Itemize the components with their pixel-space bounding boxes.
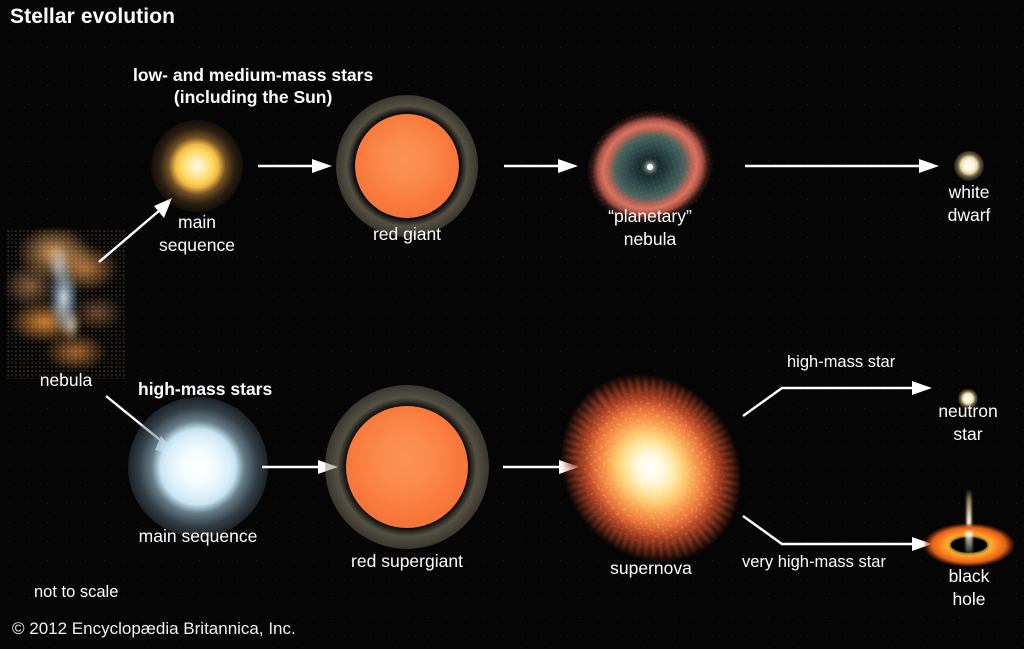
caption-neutron-star-line1: neutron (938, 400, 997, 423)
group-heading-low-mass-line1: low- and medium-mass stars (133, 64, 373, 86)
main-sequence-high-mass-star (128, 397, 268, 537)
group-heading-low-mass: low- and medium-mass stars (including th… (133, 64, 373, 109)
caption-main-sequence-low-line1: main (159, 211, 235, 234)
arrow-supernova-to-neutron-star (740, 380, 940, 420)
caption-black-hole-line2: hole (949, 588, 990, 611)
white-dwarf-object (954, 151, 984, 181)
stellar-evolution-diagram: Stellar evolution low- and medium-mass s… (0, 0, 1024, 649)
arrow-supernova-to-black-hole (740, 512, 940, 554)
black-hole-inner-glow (966, 531, 973, 553)
red-supergiant-object (325, 385, 489, 549)
caption-main-sequence-low: main sequence (159, 211, 235, 257)
arrow-main-sequence-to-red-giant (258, 156, 334, 176)
caption-white-dwarf: white dwarf (948, 181, 991, 227)
copyright-credit: © 2012 Encyclopædia Britannica, Inc. (12, 619, 296, 639)
branch-label-high-mass-star: high-mass star (787, 353, 895, 372)
caption-red-giant: red giant (373, 223, 441, 246)
caption-black-hole: black hole (949, 565, 990, 611)
red-giant-disk (355, 114, 459, 218)
caption-planetary-nebula: “planetary” nebula (608, 205, 692, 251)
caption-planetary-nebula-line1: “planetary” (608, 205, 692, 228)
caption-planetary-nebula-line2: nebula (608, 228, 692, 251)
group-heading-low-mass-line2: (including the Sun) (133, 86, 373, 108)
arrow-planetary-nebula-to-white-dwarf (745, 156, 941, 176)
caption-white-dwarf-line1: white (948, 181, 991, 204)
red-supergiant-disk (346, 406, 468, 528)
caption-neutron-star: neutron star (938, 400, 997, 446)
caption-black-hole-line1: black (949, 565, 990, 588)
arrow-red-giant-to-planetary-nebula (504, 156, 580, 176)
caption-nebula: nebula (40, 369, 93, 392)
caption-main-sequence-low-line2: sequence (159, 234, 235, 257)
branch-label-very-high-mass-star: very high-mass star (742, 553, 886, 572)
caption-white-dwarf-line2: dwarf (948, 204, 991, 227)
main-sequence-low-mass-star (151, 120, 243, 212)
supernova-object (565, 370, 737, 566)
red-giant-object (336, 95, 478, 237)
caption-red-supergiant: red supergiant (351, 550, 463, 573)
caption-main-sequence-high: main sequence (139, 525, 258, 548)
page-title: Stellar evolution (10, 5, 175, 29)
caption-supernova: supernova (610, 557, 692, 580)
note-not-to-scale: not to scale (34, 583, 118, 602)
planetary-nebula-central-star (647, 164, 653, 170)
caption-neutron-star-line2: star (938, 423, 997, 446)
